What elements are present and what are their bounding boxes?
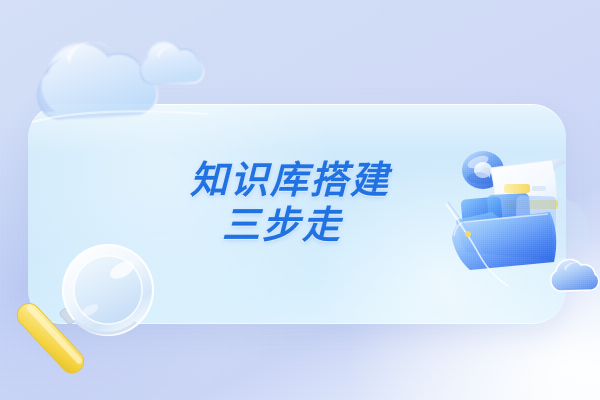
cloud-large-icon [37, 42, 157, 119]
knowledge-base-banner: 知识库搭建 三步走 [0, 0, 600, 400]
magnifier-group [24, 234, 174, 394]
magnifier-svg [24, 234, 174, 394]
cloud-illustration-icon [551, 259, 599, 291]
cable-node [465, 231, 471, 237]
cloud-small-icon [140, 42, 203, 85]
clouds-svg [26, 16, 216, 146]
highlight-bar-1 [504, 184, 530, 193]
illustration-svg [452, 142, 600, 300]
knowledge-illustration [452, 142, 600, 300]
cloud-group-top-left [26, 16, 216, 146]
